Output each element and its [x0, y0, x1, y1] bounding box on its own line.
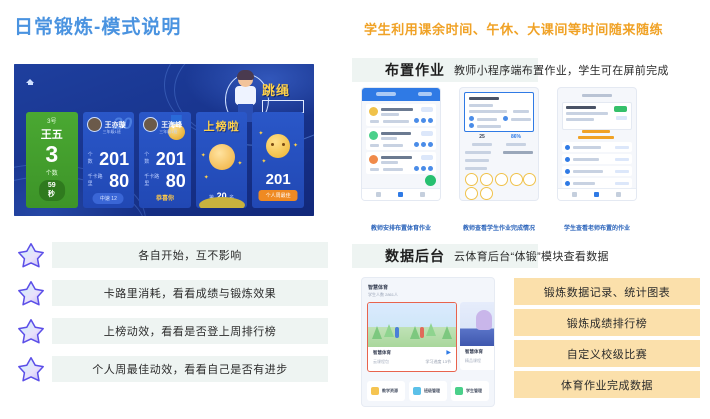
status-badge [614, 106, 627, 112]
screenshot-1[interactable]: 教师安排布置体育作业 [362, 88, 440, 218]
course-meta: 云课程包 [373, 359, 389, 365]
student-score [615, 182, 629, 185]
count-label: 个数 [144, 151, 153, 168]
player-card-blue-2[interactable]: 王海峰 三年级1班 个数 201 千卡路里 80 恭喜你 [139, 112, 191, 208]
option-dot[interactable] [469, 116, 474, 121]
feature-tag[interactable]: 体育作业完成数据 [514, 371, 700, 398]
headline-text: 学生利用课余时间、午休、大课间等时间随来随练 [364, 19, 704, 38]
shortcut-label: 班级管理 [424, 388, 440, 394]
card-line [566, 118, 594, 121]
slide-root: 日常锻炼-模式说明 跳绳 3号 [0, 0, 710, 419]
student-name [573, 158, 599, 161]
student-avatar[interactable] [465, 173, 478, 186]
tree-icon [410, 326, 420, 339]
rank-dot [565, 181, 570, 186]
list-item: 卡路里消耗，看看成绩与锻炼效果 [14, 274, 344, 312]
congrats-pill: 恭喜你 [149, 191, 181, 204]
sparkle-icon: ✦ [201, 152, 206, 159]
student-name [573, 146, 601, 149]
runner-figure [420, 327, 424, 338]
section-label [465, 159, 489, 162]
header-title-bar [376, 92, 396, 96]
tree-icon [384, 324, 394, 337]
sun-icon [209, 144, 235, 170]
class-icon [413, 387, 421, 395]
assignment-summary-card [464, 92, 534, 132]
section-title: 布置作业 [385, 60, 445, 80]
row-meta [370, 120, 379, 123]
rank-banner [582, 130, 610, 133]
feature-bullet-list: 各自开始，互不影响 卡路里消耗，看看成绩与锻炼效果 上榜动效，看看是否登上周排行… [14, 236, 344, 388]
course-title: 智慧体育 [465, 349, 483, 355]
tab-icon-assignments[interactable] [594, 192, 599, 197]
phone-tabbar [362, 188, 440, 200]
player-name: 王海峰 [161, 120, 182, 130]
row-sub [381, 137, 397, 140]
right-column: 学生利用课余时间、午休、大课间等时间随来随练 布置作业 教师小程序端布置作业，学… [352, 0, 710, 419]
card-title [469, 97, 499, 100]
screenshot-row: 教师安排布置体育作业 25 [362, 88, 652, 218]
section-subtitle: 云体育后台“体锻”模块查看数据 [454, 248, 609, 264]
course-title: 智慧体育 [373, 350, 391, 356]
shortcut-label: 教学资源 [382, 388, 398, 394]
rank-dot [565, 169, 570, 174]
action-dot[interactable] [428, 118, 433, 123]
row-meta [383, 144, 403, 147]
best-tag: 个人周最佳 [259, 190, 298, 201]
stat-block: 25 [470, 134, 494, 140]
student-name [573, 170, 603, 173]
feature-tag[interactable]: 锻炼数据记录、统计图表 [514, 278, 700, 305]
player-card-blue-1[interactable]: 20 王亦璇 三年级1班 个数 201 千卡路里 80 中速 12 [83, 112, 135, 208]
backend-console-preview: 智慧体育 学生人数 2861人 智慧体育 ▶ 云课程包 学习进度 13节 [362, 278, 494, 406]
count-value: 201 [99, 150, 129, 168]
action-dot[interactable] [428, 166, 433, 171]
action-dot[interactable] [421, 118, 426, 123]
tab-icon-home[interactable] [376, 192, 381, 197]
card-title [566, 106, 596, 109]
backend-title: 智慧体育 [368, 284, 388, 291]
page-title: 日常锻炼-模式说明 [14, 12, 181, 39]
stat-label [472, 143, 492, 146]
course-card-alt[interactable]: 智慧体育 精品课程 [460, 302, 494, 370]
avatar [369, 155, 378, 164]
rank-dot [565, 145, 570, 150]
calorie-value: 80 [109, 172, 129, 190]
row-title [381, 156, 412, 159]
student-icon [455, 387, 463, 395]
avatar [369, 107, 378, 116]
player-rank: 3号 [26, 116, 78, 125]
phone-mockup [558, 88, 636, 200]
row-title [381, 132, 411, 135]
list-item: 各自开始，互不影响 [14, 236, 344, 274]
card-line [469, 110, 507, 113]
header-action-bar [418, 92, 432, 96]
row-meta [370, 168, 379, 171]
shortcut-label: 学生管理 [466, 388, 482, 394]
assignment-row [366, 104, 436, 126]
star-icon [14, 278, 48, 308]
card-line [469, 104, 493, 107]
avatar [369, 131, 378, 140]
stage-shape [199, 197, 245, 208]
play-icon[interactable]: ▶ [446, 349, 451, 356]
sparkle-icon: ✦ [293, 142, 298, 149]
sparkle-icon: ✦ [261, 158, 266, 165]
player-card-rise[interactable]: 上榜啦 ✦ ✦ ✦ 第 20 名 [196, 112, 248, 208]
action-dot[interactable] [414, 166, 419, 171]
screenshot-3[interactable]: 学生查看老师布置的作业 [558, 88, 636, 218]
tab-icon-home[interactable] [572, 192, 577, 197]
sparkle-icon: ✦ [204, 174, 209, 181]
list-item-label: 上榜动效，看看是否登上周排行榜 [52, 318, 328, 344]
thumb-shape [476, 310, 492, 330]
student-avatar[interactable] [480, 173, 493, 186]
rank-dot [565, 157, 570, 162]
student-score [615, 170, 629, 173]
backend-subtitle: 学生人数 2861人 [368, 292, 398, 298]
option-dot[interactable] [469, 123, 474, 128]
student-row[interactable] [562, 142, 632, 152]
list-item-label: 卡路里消耗，看看成绩与锻炼效果 [52, 280, 328, 306]
shortcut-class-management[interactable]: 班级管理 [409, 381, 447, 401]
list-item: 个人周最佳动效，看看自己是否有进步 [14, 350, 344, 388]
row-sub [381, 113, 399, 116]
best-value: 201 [252, 171, 304, 188]
row-button[interactable] [421, 155, 433, 160]
action-dot[interactable] [414, 142, 419, 147]
shortcut-teaching-resources[interactable]: 教学资源 [367, 381, 405, 401]
feature-tag-list: 锻炼数据记录、统计图表 锻炼成绩排行榜 自定义校级比赛 体育作业完成数据 [514, 278, 700, 402]
tree-icon [426, 323, 436, 336]
phone-header [362, 88, 440, 101]
phone-tabbar [558, 188, 636, 200]
calorie-label: 千卡路里 [88, 173, 107, 190]
player-name: 王五 [26, 126, 78, 142]
section-header-assignments: 布置作业 教师小程序端布置作业，学生可在屏前完成 [352, 58, 710, 82]
list-item-label: 各自开始，互不影响 [52, 242, 328, 268]
player-time-pill: 59秒 [39, 180, 65, 201]
rank-banner [578, 136, 614, 139]
player-class: 三年级1班 [103, 129, 121, 135]
count-value: 201 [156, 150, 186, 168]
card-button[interactable] [616, 116, 627, 120]
student-avatar[interactable] [510, 173, 523, 186]
action-dot[interactable] [421, 142, 426, 147]
row-sub [381, 161, 398, 164]
avatar-hair [237, 70, 254, 80]
course-thumbnail [460, 302, 494, 346]
row-meta [383, 120, 409, 123]
runner-figure [395, 327, 399, 338]
avatar [143, 117, 158, 132]
add-assignment-button[interactable] [425, 175, 436, 186]
tab-icon-profile[interactable] [616, 192, 621, 197]
action-dot[interactable] [428, 142, 433, 147]
left-column: 日常锻炼-模式说明 跳绳 3号 [0, 0, 352, 419]
backend-shortcut-row: 教学资源 班级管理 学生管理 [367, 381, 489, 401]
section-meta [503, 151, 533, 154]
activity-badge: 跳绳 [262, 80, 304, 113]
sparkle-icon: ✦ [258, 130, 263, 137]
stat-block: 86% [504, 134, 528, 140]
home-icon[interactable] [26, 77, 35, 85]
option-label [477, 118, 497, 121]
section-header-backend: 数据后台 云体育后台“体锻”模块查看数据 [352, 244, 710, 268]
shortcut-student-management[interactable]: 学生管理 [451, 381, 489, 401]
player-card-green[interactable]: 3号 王五 3 个数 59秒 [26, 112, 78, 208]
action-dot[interactable] [421, 166, 426, 171]
star-icon [14, 316, 48, 346]
row-button[interactable] [421, 107, 433, 112]
student-avatar[interactable] [523, 173, 536, 186]
resource-icon [371, 387, 379, 395]
assignment-row [366, 128, 436, 150]
row-button[interactable] [421, 131, 433, 136]
activity-badge-label: 跳绳 [262, 80, 304, 99]
tab-icon-profile[interactable] [420, 192, 425, 197]
speed-pill: 中速 12 [93, 193, 124, 204]
avatar-body [235, 86, 256, 105]
calorie-label: 千卡路里 [144, 173, 163, 190]
list-item: 上榜动效，看看是否登上周排行榜 [14, 312, 344, 350]
smiley-icon [266, 134, 290, 158]
screenshot-caption: 学生查看老师布置的作业 [550, 223, 644, 232]
student-name [573, 182, 595, 185]
tree-icon [372, 326, 382, 339]
assignment-detail-card [562, 102, 632, 130]
exercise-screen-preview: 跳绳 3号 王五 3 个数 59秒 20 王亦璇 [14, 64, 314, 216]
section-subtitle: 教师小程序端布置作业，学生可在屏前完成 [454, 62, 669, 78]
student-row[interactable] [562, 178, 632, 188]
screenshot-caption: 教师安排布置体育作业 [354, 223, 448, 232]
star-icon [14, 240, 48, 270]
student-avatar[interactable] [480, 187, 493, 200]
student-avatar[interactable] [465, 187, 478, 200]
card-line [513, 110, 529, 113]
course-progress: 学习进度 13节 [425, 359, 451, 365]
tree-icon [442, 326, 452, 339]
student-avatar[interactable] [495, 173, 508, 186]
assignment-row [366, 152, 436, 174]
star-icon [14, 354, 48, 384]
option-dot[interactable] [503, 116, 508, 121]
phone-mockup [362, 88, 440, 200]
sparkle-icon: ✦ [237, 160, 242, 167]
section-label [465, 167, 487, 170]
phone-mockup: 25 86% [460, 88, 538, 200]
feature-tag[interactable]: 自定义校级比赛 [514, 340, 700, 367]
avatar [87, 117, 102, 132]
card-line [566, 112, 608, 115]
tab-icon-assignments[interactable] [398, 192, 403, 197]
row-meta [383, 168, 403, 171]
section-label [465, 151, 491, 154]
course-thumbnail [368, 303, 456, 347]
phone-title [582, 94, 612, 97]
course-meta: 精品课程 [465, 358, 481, 364]
student-score [615, 158, 629, 161]
student-row[interactable] [562, 166, 632, 176]
count-label: 个数 [88, 151, 97, 168]
calorie-value: 80 [166, 172, 186, 190]
player-card-list: 3号 王五 3 个数 59秒 20 王亦璇 三年级1班 个数 [26, 112, 304, 208]
rise-label: 上榜啦 [196, 118, 248, 134]
player-count-unit: 个数 [26, 168, 78, 177]
option-label [511, 118, 531, 121]
player-class: 三年级1班 [159, 129, 177, 135]
student-score [615, 146, 629, 149]
row-title [381, 108, 413, 111]
student-row[interactable] [562, 154, 632, 164]
screenshot-2[interactable]: 25 86% 教师查看学生作业完成情况 [460, 88, 538, 218]
list-item-label: 个人周最佳动效，看看自己是否有进步 [52, 356, 328, 382]
screenshot-caption: 教师查看学生作业完成情况 [452, 223, 546, 232]
section-title: 数据后台 [385, 246, 445, 266]
option-label [477, 125, 501, 128]
player-count: 3 [26, 141, 78, 168]
player-name: 王亦璇 [105, 120, 126, 130]
player-card-best[interactable]: ✦ ✦ ✦ 201 个人周最佳 [252, 112, 304, 208]
feature-tag[interactable]: 锻炼成绩排行榜 [514, 309, 700, 336]
row-meta [370, 144, 379, 147]
action-dot[interactable] [414, 118, 419, 123]
course-card-selected[interactable]: 智慧体育 ▶ 云课程包 学习进度 13节 [367, 302, 457, 372]
stat-label [506, 143, 526, 146]
